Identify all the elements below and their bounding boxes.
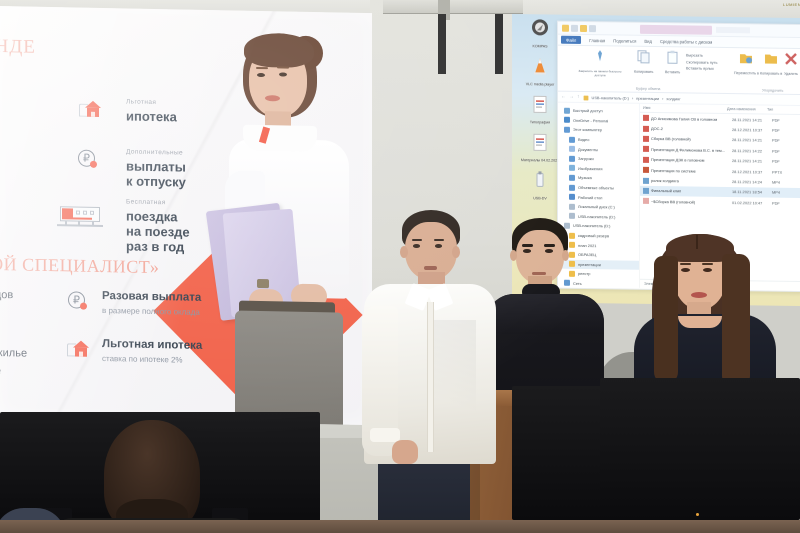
music-icon [569,175,575,181]
monitor-center [512,386,610,520]
file-type: PDF [772,128,798,133]
slide-frag-5: ке [0,364,1,379]
pin-icon-nav [564,108,570,114]
tab-share[interactable]: Поделиться [613,38,636,43]
specialist-benefit-2-title: Льготная ипотека [102,338,202,353]
nav-label: Быстрый доступ [573,108,603,113]
power-led-icon [696,513,699,516]
slide-model-photo [213,20,372,425]
arrow-right-icon[interactable]: → [569,94,574,100]
breadcrumb-folder[interactable]: презентации [636,95,659,100]
benefit-3-title-line2: на поезде [126,223,190,239]
pin-label: Закрепить на панели быстрого доступа [574,69,626,78]
desktop-icon [569,194,575,200]
tab-drive-tools[interactable]: Средства работы с диском [660,39,712,45]
folder-properties-icon[interactable] [580,25,587,32]
pdf-icon [643,125,649,131]
tab-view[interactable]: Вид [644,38,652,43]
benefit-3-title-line1: поездка [126,208,177,224]
file-name: Финальный клип [651,188,732,194]
slide-frag-4: ре жилье [0,346,27,362]
presenter-1 [372,210,502,533]
pc-icon [564,127,570,133]
ruble-icon: ₽ [78,150,98,170]
chevron-down-icon[interactable] [589,25,596,32]
pin-icon [574,49,626,69]
ppt-icon [643,167,649,173]
copy-icon [634,50,653,69]
disk-icon [569,204,575,210]
paste-label: Вставить [665,70,680,74]
file-date: 18.11.2021 18:54 [732,189,772,195]
benefit-3-title-line3: раз в год [126,238,184,254]
vlc-cone-icon [530,56,550,76]
benefit-2-caption: Дополнительные [126,148,183,156]
nav-label: Музыка [578,175,592,180]
file-name: Презентация Д Филимонова В.С. в тем... [651,147,732,153]
delete-icon [784,52,798,71]
move-to-icon [734,51,759,70]
pdf-icon [643,157,649,163]
move-to-label: Переместить в [734,71,759,75]
pdf-icon [643,115,649,121]
house-icon-2 [66,337,90,359]
nav-label: Локальный диск (C:) [578,204,615,210]
ruble-icon-2: ₽ [68,291,88,311]
breadcrumb-drive[interactable]: USB-накопитель (D:) [592,95,629,101]
file-type: PDF [772,148,798,153]
contextual-tab-highlight [640,25,712,35]
file-date: 28.11.2021 14:21 [732,158,772,164]
nav-label: Видео [578,137,589,142]
file-name: ~$Сборка ВВ (головной) [651,199,732,205]
specialist-benefit-2-sub: ставка по ипотеке 2% [102,354,183,365]
save-icon[interactable] [571,25,578,32]
paste-link-command[interactable]: Вставить ярлык [686,65,717,72]
video-icon [643,188,649,194]
drive-icon-crumb [583,88,589,106]
left-projection-screen: МАНДЕ вники инское кивание и Льготная ип… [0,6,372,425]
arrow-left-icon[interactable]: ← [561,94,566,100]
window-controls[interactable] [716,27,750,33]
ribbon[interactable]: Закрепить на панели быстрого доступа Коп… [558,46,800,95]
pdf-icon [643,136,649,142]
breadcrumb-sep-2: › [662,96,663,101]
column-header-type[interactable]: Тип [764,108,790,112]
monitor-right [600,378,800,520]
nav-label: Документы [578,147,598,152]
organize-group-label: Упорядочить [762,88,783,92]
doc-icon [530,94,550,114]
move-to-button[interactable]: Переместить в [734,51,759,75]
file-type: MP4 [772,190,798,195]
pdf-icon [643,146,649,152]
nav-label: Рабочий стол [578,195,602,200]
benefit-2-title-line1: выплаты [126,158,186,174]
image-icon [569,165,575,171]
breadcrumb-sep-1: › [632,95,633,100]
tab-home[interactable]: Главная [589,38,605,43]
3d-icon [569,184,575,190]
classroom-presentation-photo: LUMIEN МАНДЕ вники инское кивание и Льго… [0,0,800,533]
app-icon [530,18,550,38]
folder-icon[interactable] [562,25,569,32]
drive-icon [530,170,550,190]
nav-label: OneDrive - Personal [573,118,608,123]
copy-to-icon [760,51,782,70]
nav-label: Изображения [578,166,602,171]
file-name: ДО Анисимова Галия СВ в головном [651,116,732,122]
file-date: 28.11.2021 14:24 [732,179,772,185]
file-type: PDF [772,159,798,164]
file-type: PDF [772,117,798,122]
file-name: ролик холдинга [651,178,732,184]
doc-icon-nav [569,146,575,152]
download-icon [569,156,575,162]
video-icon [569,136,575,142]
benefit-1-caption: Льготная [126,98,156,106]
benefit-3-caption: Бесплатная [126,198,166,206]
file-date: 01.02.2022 10:47 [732,200,772,206]
cloud-icon [564,117,570,123]
nav-label: Загрузки [578,156,594,161]
tab-file[interactable]: Файл [561,36,581,44]
benefit-2-title-line2: к отпуску [126,173,186,189]
file-date: 28.11.2021 14:22 [732,148,772,154]
pdf-icon [643,198,649,204]
train-icon [60,204,104,229]
specialist-benefit-1-sub: в размере полного оклада [102,306,200,317]
nav-label: Объемные объекты [578,185,614,190]
file-name: Сборка ВВ (головной) [651,136,732,142]
slide-heading-team: МАНДЕ [0,35,36,58]
paste-button[interactable]: Вставить [665,50,680,74]
column-header-name[interactable]: Имя [640,106,724,111]
house-icon [78,98,102,120]
copy-label: Копировать [634,70,653,74]
file-type: PDF [772,138,798,143]
copy-to-label: Копировать в [760,71,782,75]
copy-button[interactable]: Копировать [634,50,653,74]
audience-head [104,420,200,533]
delete-button[interactable]: Удалить [784,52,798,76]
file-date: 28.12.2021 10:37 [732,169,772,175]
file-type: PDF [772,200,798,205]
benefit-1-title: ипотека [126,108,177,124]
breadcrumb-subfolder[interactable]: холдинг [666,96,680,101]
delete-label: Удалить [784,72,798,76]
file-name: Презентация ДЭК в головном [651,157,732,163]
file-row[interactable]: ~$Сборка ВВ (головной)01.02.2022 10:47PD… [640,196,800,209]
clipboard-group-label: Буфер обмена [636,87,660,91]
slide-frag-1: асходов [0,288,13,304]
projector-screen-roller: LUMIEN [383,0,523,14]
roller-brand-label: LUMIEN [783,2,800,7]
screen-gap-b [495,14,503,74]
file-name: Презентация по системе [651,168,732,174]
file-date: 28.11.2021 14:21 [732,117,772,123]
nav-label: Этот компьютер [573,127,602,132]
doc-icon-2 [530,132,550,152]
column-header-date[interactable]: Дата изменения [724,107,764,112]
clipboard-small-commands[interactable]: Вырезать Скопировать путь Вставить ярлык [686,52,717,72]
arrow-up-icon[interactable]: ↑ [577,94,580,100]
video-icon [643,177,649,183]
specialist-benefit-1-title: Разовая выплата [102,290,201,305]
front-desk [0,520,800,533]
slide-heading-specialist: ЛОДОЙ СПЕЦИАЛИСТ» [0,253,159,278]
file-date: 28.11.2021 14:21 [732,138,772,144]
screen-gap-a [438,14,446,74]
file-name: ДОС-2 [651,126,732,132]
pin-to-quick-access-button[interactable]: Закрепить на панели быстрого доступа [574,49,626,78]
copy-to-button[interactable]: Копировать в [760,51,782,75]
file-type: PPTX [772,169,798,174]
paste-icon [665,50,680,69]
file-date: 28.12.2021 10:37 [732,127,772,133]
file-type: MP4 [772,180,798,185]
